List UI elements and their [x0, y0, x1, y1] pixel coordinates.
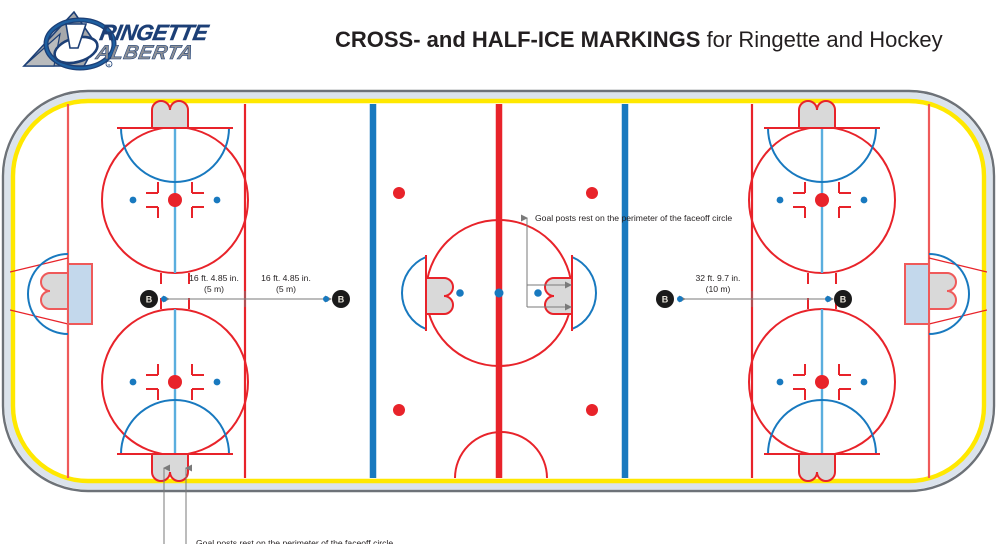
bench-marker-label-2: B: [338, 294, 345, 304]
logo-wordmark-line2: ALBERTA: [94, 43, 228, 63]
bench-marker-label-4: B: [840, 294, 847, 304]
rink-diagram: 16 ft. 4.85 in. (5 m) 16 ft. 4.85 in. (5…: [0, 88, 997, 544]
page-title-bold: CROSS- and HALF-ICE MARKINGS: [335, 27, 700, 52]
page-title: CROSS- and HALF-ICE MARKINGS for Ringett…: [335, 27, 943, 53]
neutral-dot-bottom-left: [393, 404, 405, 416]
goal-post-note: Goal posts rest on the perimeter of the …: [535, 213, 732, 223]
neutral-dot-top-left: [393, 187, 405, 199]
page-title-regular: for Ringette and Hockey: [700, 27, 942, 52]
logo-wordmark-line1: RINGETTE: [98, 22, 232, 43]
bench-marker-label-3: B: [662, 294, 669, 304]
logo-wordmark: RINGETTE ALBERTA: [94, 22, 233, 66]
bottom-note-text: Goal posts rest on the perimeter of the …: [196, 539, 393, 544]
page-root: R RINGETTE ALBERTA CROSS- and HALF-ICE M…: [0, 0, 997, 544]
neutral-dot-top-right: [586, 187, 598, 199]
dimension-mid-line2: (5 m): [276, 284, 296, 294]
dimension-mid-line1: 16 ft. 4.85 in.: [261, 273, 311, 283]
dimension-left-line2: (5 m): [204, 284, 224, 294]
bench-marker-label-1: B: [146, 294, 153, 304]
dimension-right-line1: 32 ft. 9.7 in.: [696, 273, 741, 283]
dimension-right-line2: (10 m): [706, 284, 731, 294]
neutral-dot-bottom-right: [586, 404, 598, 416]
dimension-left-line1: 16 ft. 4.85 in.: [189, 273, 239, 283]
page-header: R RINGETTE ALBERTA CROSS- and HALF-ICE M…: [0, 0, 997, 88]
bottom-note-caption: Goal posts rest on the perimeter of the …: [196, 539, 516, 544]
